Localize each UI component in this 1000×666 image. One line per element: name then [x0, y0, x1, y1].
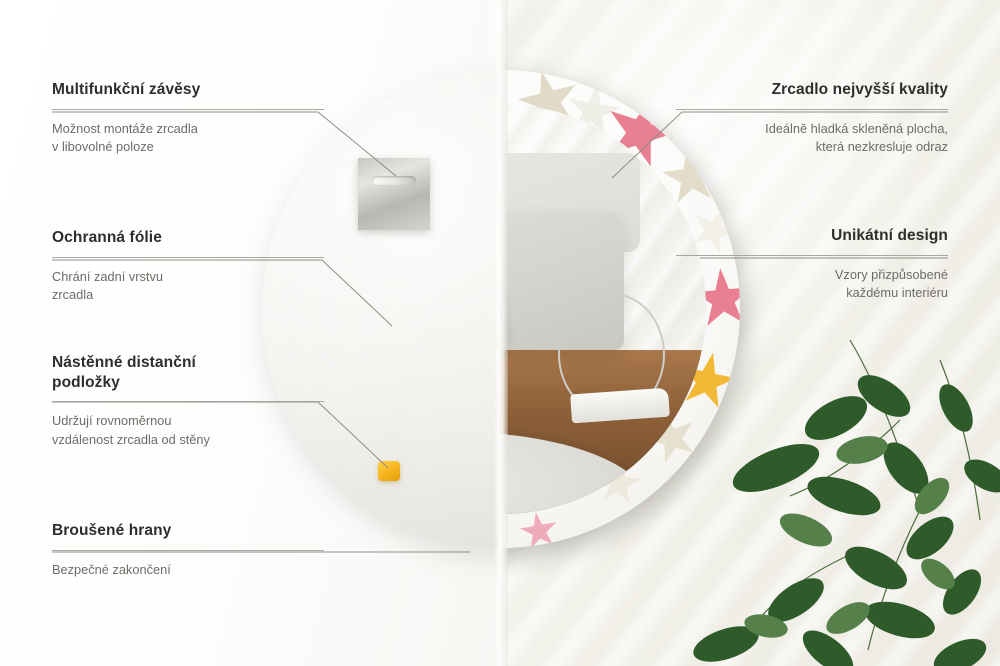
callout-title: Unikátní design	[676, 226, 948, 246]
callout-body: Bezpečné zakončení	[52, 561, 324, 580]
callout-rule	[676, 109, 948, 110]
callout-highest-quality-mirror: Zrcadlo nejvyšší kvality Ideálně hladká …	[676, 80, 948, 157]
callout-body: Chrání zadní vrstvu zrcadla	[52, 268, 324, 305]
callout-rule	[52, 550, 324, 551]
callout-title: Nástěnné distanční podložky	[52, 353, 324, 392]
callout-protective-foil: Ochranná fólie Chrání zadní vrstvu zrcad…	[52, 228, 324, 305]
callout-body: Udržují rovnoměrnou vzdálenost zrcadla o…	[52, 412, 324, 449]
foliage-decoration	[600, 300, 1000, 666]
callout-body: Vzory přizpůsobené každému interiéru	[676, 266, 948, 303]
callout-title: Zrcadlo nejvyšší kvality	[676, 80, 948, 100]
callout-title: Broušené hrany	[52, 521, 324, 541]
callout-rule	[676, 255, 948, 256]
callout-wall-spacers: Nástěnné distanční podložky Udržují rovn…	[52, 353, 324, 449]
callout-title: Ochranná fólie	[52, 228, 324, 248]
callout-multifunctional-hangers: Multifunkční závěsy Možnost montáže zrca…	[52, 80, 324, 157]
callout-rule	[52, 257, 324, 258]
callout-body: Možnost montáže zrcadla v libovolné polo…	[52, 120, 324, 157]
callout-title: Multifunkční závěsy	[52, 80, 324, 100]
callout-polished-edges: Broušené hrany Bezpečné zakončení	[52, 521, 324, 579]
callout-unique-design: Unikátní design Vzory přizpůsobené každé…	[676, 226, 948, 303]
callout-rule	[52, 109, 324, 110]
callout-body: Ideálně hladká skleněná plocha, která ne…	[676, 120, 948, 157]
infographic-canvas: Multifunkční závěsy Možnost montáže zrca…	[0, 0, 1000, 666]
callout-rule	[52, 401, 324, 402]
